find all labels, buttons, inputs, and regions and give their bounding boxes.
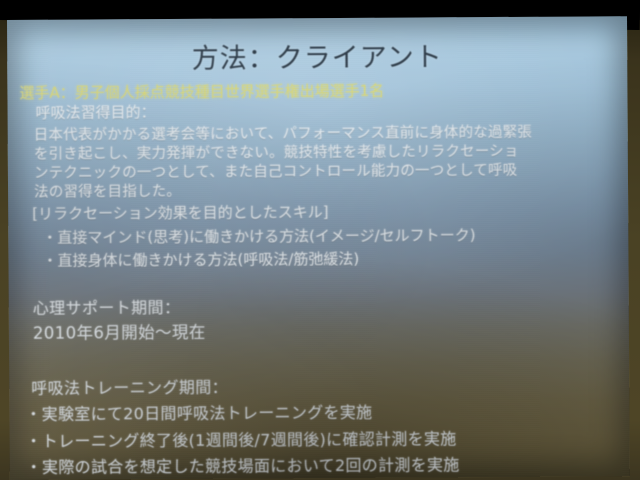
training-period-heading: 呼吸法トレーニング期間： bbox=[31, 374, 228, 399]
skill-heading: [リラクセーション効果を目的としたスキル] bbox=[32, 201, 329, 224]
purpose-heading: 呼吸法習得目的： bbox=[36, 101, 156, 123]
slide-content: 方法：クライアント 選手A：男子個人採点競技種目世界選手権出場選手1名 呼吸法習… bbox=[7, 16, 630, 480]
training-bullet-1: ・実験室にて20日間呼吸法トレーニングを実施 bbox=[25, 399, 372, 425]
support-period-heading: 心理サポート期間： bbox=[33, 294, 181, 319]
skill-bullet-1: ・直接マインド(思考)に働きかける方法(イメージ/セルフトーク) bbox=[42, 224, 475, 248]
skill-bullet-2: ・直接身体に働きかける方法(呼吸法/筋弛緩法) bbox=[42, 248, 359, 271]
projection-screen: 方法：クライアント 選手A：男子個人採点競技種目世界選手権出場選手1名 呼吸法習… bbox=[7, 16, 630, 480]
training-bullet-3: ・実際の試合を想定した競技場面において2回の計測を実施 bbox=[26, 451, 460, 478]
slide-title: 方法：クライアント bbox=[7, 34, 627, 77]
slide-photograph: 方法：クライアント 選手A：男子個人採点競技種目世界選手権出場選手1名 呼吸法習… bbox=[0, 0, 640, 480]
purpose-paragraph-line-4: 法の習得を目指した。 bbox=[34, 180, 181, 202]
purpose-paragraph-line-3: ンテクニックの一つとして、また自己コントロール能力の一つとして呼吸 bbox=[34, 159, 518, 183]
client-description-line: 選手A：男子個人採点競技種目世界選手権出場選手1名 bbox=[19, 80, 384, 103]
support-period-value: 2010年6月開始〜現在 bbox=[33, 319, 206, 344]
training-bullet-2: ・トレーニング終了後(1週間後/7週間後)に確認計測を実施 bbox=[25, 425, 456, 452]
